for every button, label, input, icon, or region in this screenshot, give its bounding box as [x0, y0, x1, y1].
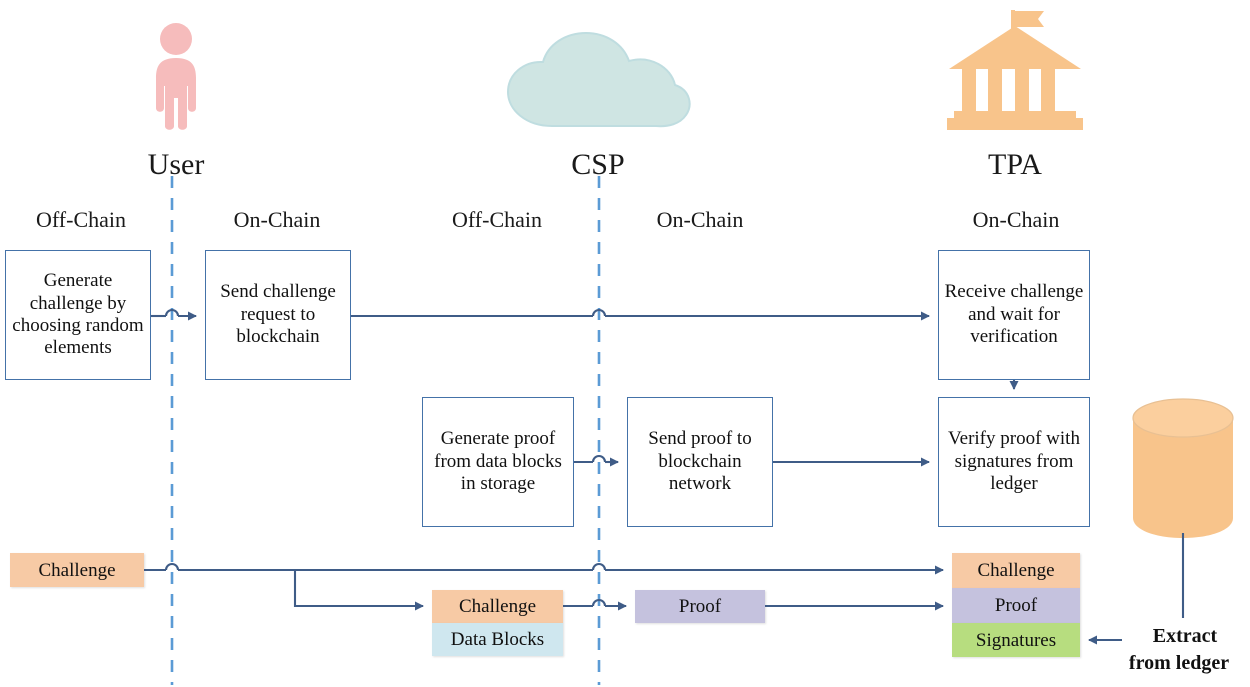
- actor-title-user: User: [106, 150, 246, 180]
- arrow-userchallenge-to-tpachallenge: [144, 564, 943, 570]
- actor-title-tpa: TPA: [945, 150, 1085, 180]
- data-chip-tpa-challenge[interactable]: Challenge: [952, 553, 1080, 588]
- arrow-cspchallenge-to-proof: [563, 600, 626, 606]
- chain-label-user-offchain: Off-Chain: [6, 209, 156, 231]
- arrow-generate-to-send: [151, 310, 196, 316]
- data-chip-tpa-signatures[interactable]: Signatures: [952, 623, 1080, 657]
- ledger-note-line2: from ledger: [1108, 652, 1250, 675]
- database-cylinder-icon: [1128, 396, 1238, 548]
- process-box-generate-proof[interactable]: Generate proof from data blocks in stora…: [422, 397, 574, 527]
- process-box-receive-challenge[interactable]: Receive challenge and wait for verificat…: [938, 250, 1090, 380]
- data-chip-tpa-proof[interactable]: Proof: [952, 588, 1080, 623]
- data-chip-user-challenge[interactable]: Challenge: [10, 553, 144, 587]
- data-chip-csp-datablocks[interactable]: Data Blocks: [432, 623, 563, 656]
- process-box-verify-proof[interactable]: Verify proof with signatures from ledger: [938, 397, 1090, 527]
- chain-label-tpa-onchain: On-Chain: [941, 209, 1091, 231]
- arrow-userchallenge-to-cspchallenge: [295, 570, 423, 606]
- data-chip-csp-challenge[interactable]: Challenge: [432, 590, 563, 623]
- process-box-generate-challenge[interactable]: Generate challenge by choosing random el…: [5, 250, 151, 380]
- arrow-send-to-receive: [351, 310, 929, 316]
- process-box-send-proof[interactable]: Send proof to blockchain network: [627, 397, 773, 527]
- bank-icon: [940, 8, 1090, 136]
- cloud-icon: [500, 30, 696, 135]
- process-box-send-challenge[interactable]: Send challenge request to blockchain: [205, 250, 351, 380]
- arrow-genproof-to-sendproof: [574, 456, 618, 462]
- data-chip-csp-proof[interactable]: Proof: [635, 590, 765, 623]
- chain-label-user-onchain: On-Chain: [202, 209, 352, 231]
- actor-title-csp: CSP: [528, 150, 668, 180]
- ledger-note-line1: Extract: [1123, 625, 1247, 648]
- person-icon: [143, 22, 209, 132]
- chain-label-csp-offchain: Off-Chain: [422, 209, 572, 231]
- connector-ledger-to-signatures: [1089, 533, 1183, 640]
- chain-label-csp-onchain: On-Chain: [625, 209, 775, 231]
- diagram-canvas: User CSP TPA Off-Chain On-Chain Off-Chai…: [0, 0, 1250, 687]
